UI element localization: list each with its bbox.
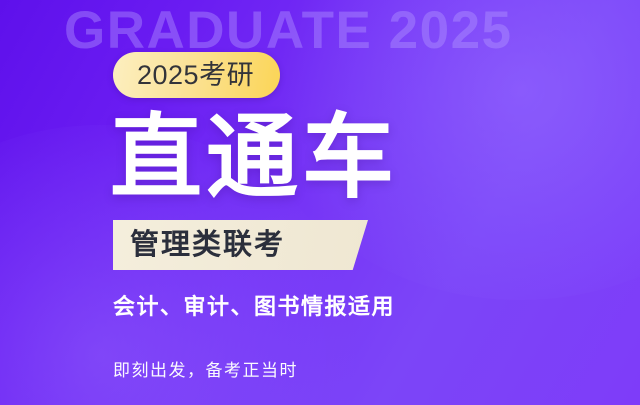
year-badge: 2025考研 (113, 52, 280, 98)
category-banner-label: 管理类联考 (130, 231, 285, 260)
subtitle-text: 会计、审计、图书情报适用 (113, 292, 395, 322)
year-badge-label: 2025考研 (137, 62, 254, 89)
page-title: 直通车 (110, 110, 398, 206)
category-banner: 管理类联考 (113, 220, 368, 270)
promo-poster: GRADUATE 2025 2025考研 直通车 管理类联考 会计、审计、图书情… (0, 0, 640, 405)
tagline-text: 即刻出发，备考正当时 (113, 359, 298, 383)
